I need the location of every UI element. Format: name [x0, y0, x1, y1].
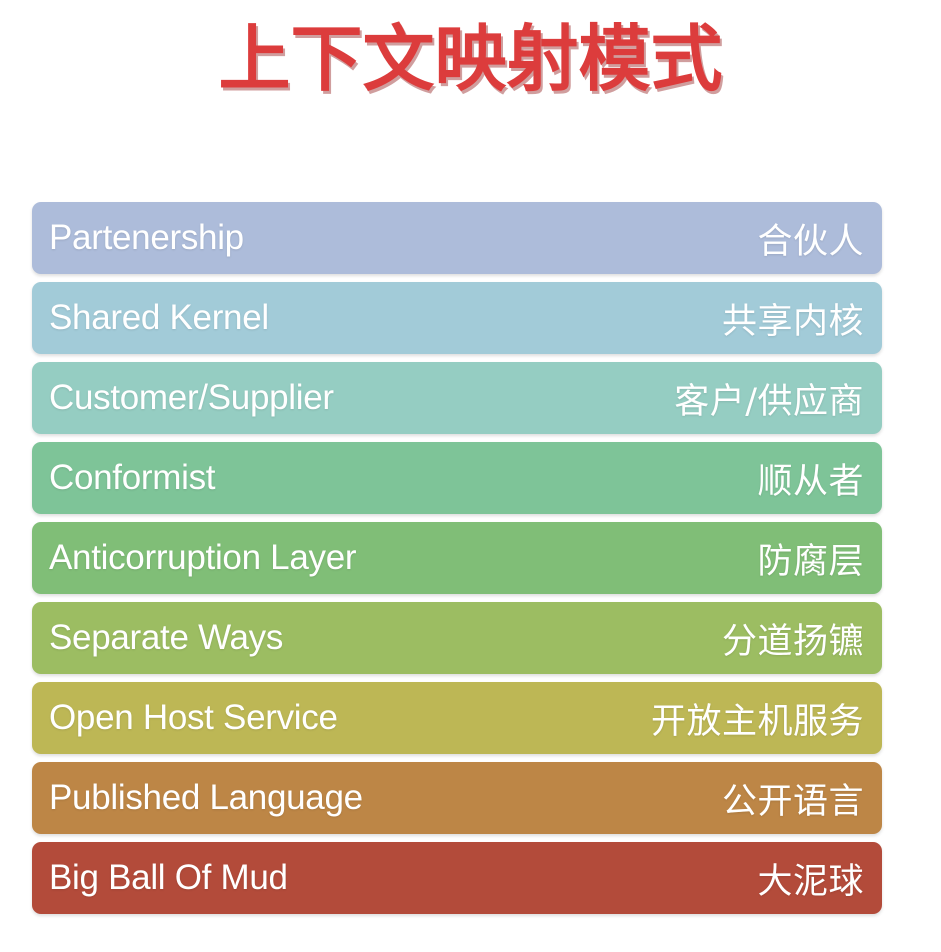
pattern-name-zh: 大泥球 [757, 853, 864, 904]
pattern-row[interactable]: Customer/Supplier客户/供应商 [32, 362, 882, 434]
pattern-name-en: Conformist [49, 458, 215, 498]
pattern-name-zh: 防腐层 [757, 533, 864, 584]
pattern-name-en: Partenership [49, 218, 244, 258]
pattern-name-en: Separate Ways [49, 618, 283, 658]
pattern-name-zh: 客户/供应商 [674, 373, 864, 424]
pattern-list: Partenership合伙人Shared Kernel共享内核Customer… [32, 202, 882, 914]
pattern-row[interactable]: Anticorruption Layer防腐层 [32, 522, 882, 594]
pattern-name-en: Anticorruption Layer [49, 538, 356, 578]
pattern-row[interactable]: Separate Ways分道扬镳 [32, 602, 882, 674]
pattern-name-zh: 顺从者 [757, 453, 864, 504]
pattern-row[interactable]: Partenership合伙人 [32, 202, 882, 274]
pattern-name-en: Open Host Service [49, 698, 338, 738]
pattern-name-zh: 共享内核 [722, 293, 864, 344]
slide-canvas: 上下文映射模式 Partenership合伙人Shared Kernel共享内核… [0, 0, 941, 952]
pattern-row[interactable]: Big Ball Of Mud大泥球 [32, 842, 882, 914]
pattern-name-zh: 分道扬镳 [722, 613, 864, 664]
pattern-row[interactable]: Published Language公开语言 [32, 762, 882, 834]
pattern-name-zh: 公开语言 [722, 773, 864, 824]
pattern-name-en: Shared Kernel [49, 298, 269, 338]
pattern-name-en: Published Language [49, 778, 363, 818]
pattern-name-en: Customer/Supplier [49, 378, 334, 418]
pattern-name-en: Big Ball Of Mud [49, 858, 288, 898]
pattern-row[interactable]: Shared Kernel共享内核 [32, 282, 882, 354]
title-container: 上下文映射模式 [0, 22, 941, 98]
pattern-name-zh: 合伙人 [757, 213, 864, 264]
page-title: 上下文映射模式 [218, 22, 722, 98]
pattern-row[interactable]: Open Host Service开放主机服务 [32, 682, 882, 754]
pattern-name-zh: 开放主机服务 [651, 693, 864, 744]
pattern-row[interactable]: Conformist顺从者 [32, 442, 882, 514]
